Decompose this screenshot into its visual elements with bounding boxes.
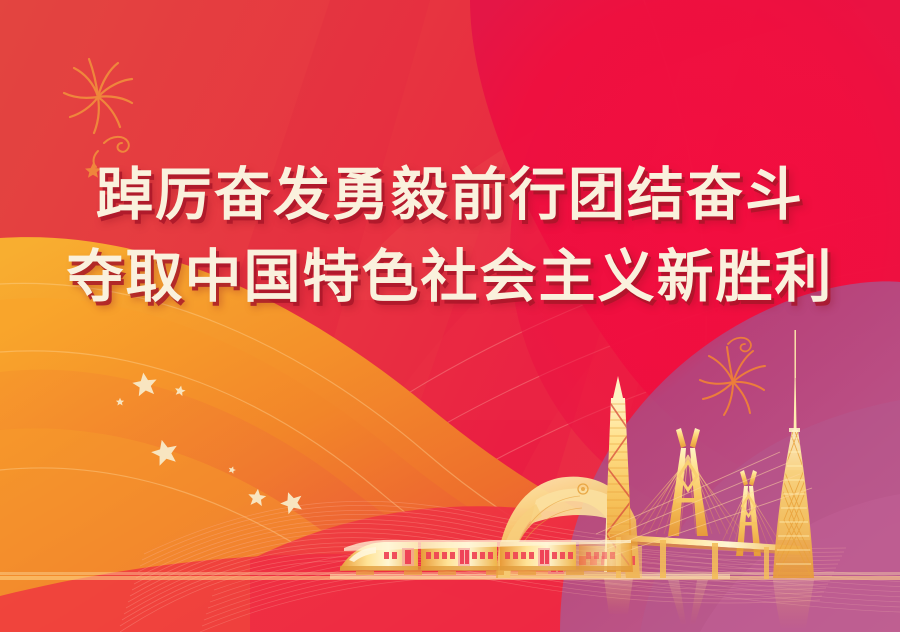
skyline-layer bbox=[0, 0, 900, 632]
canton-tower-landmark bbox=[760, 330, 830, 628]
poster-canvas: 踔厉奋发勇毅前行团结奋斗 夺取中国特色社会主义新胜利 bbox=[0, 0, 900, 632]
